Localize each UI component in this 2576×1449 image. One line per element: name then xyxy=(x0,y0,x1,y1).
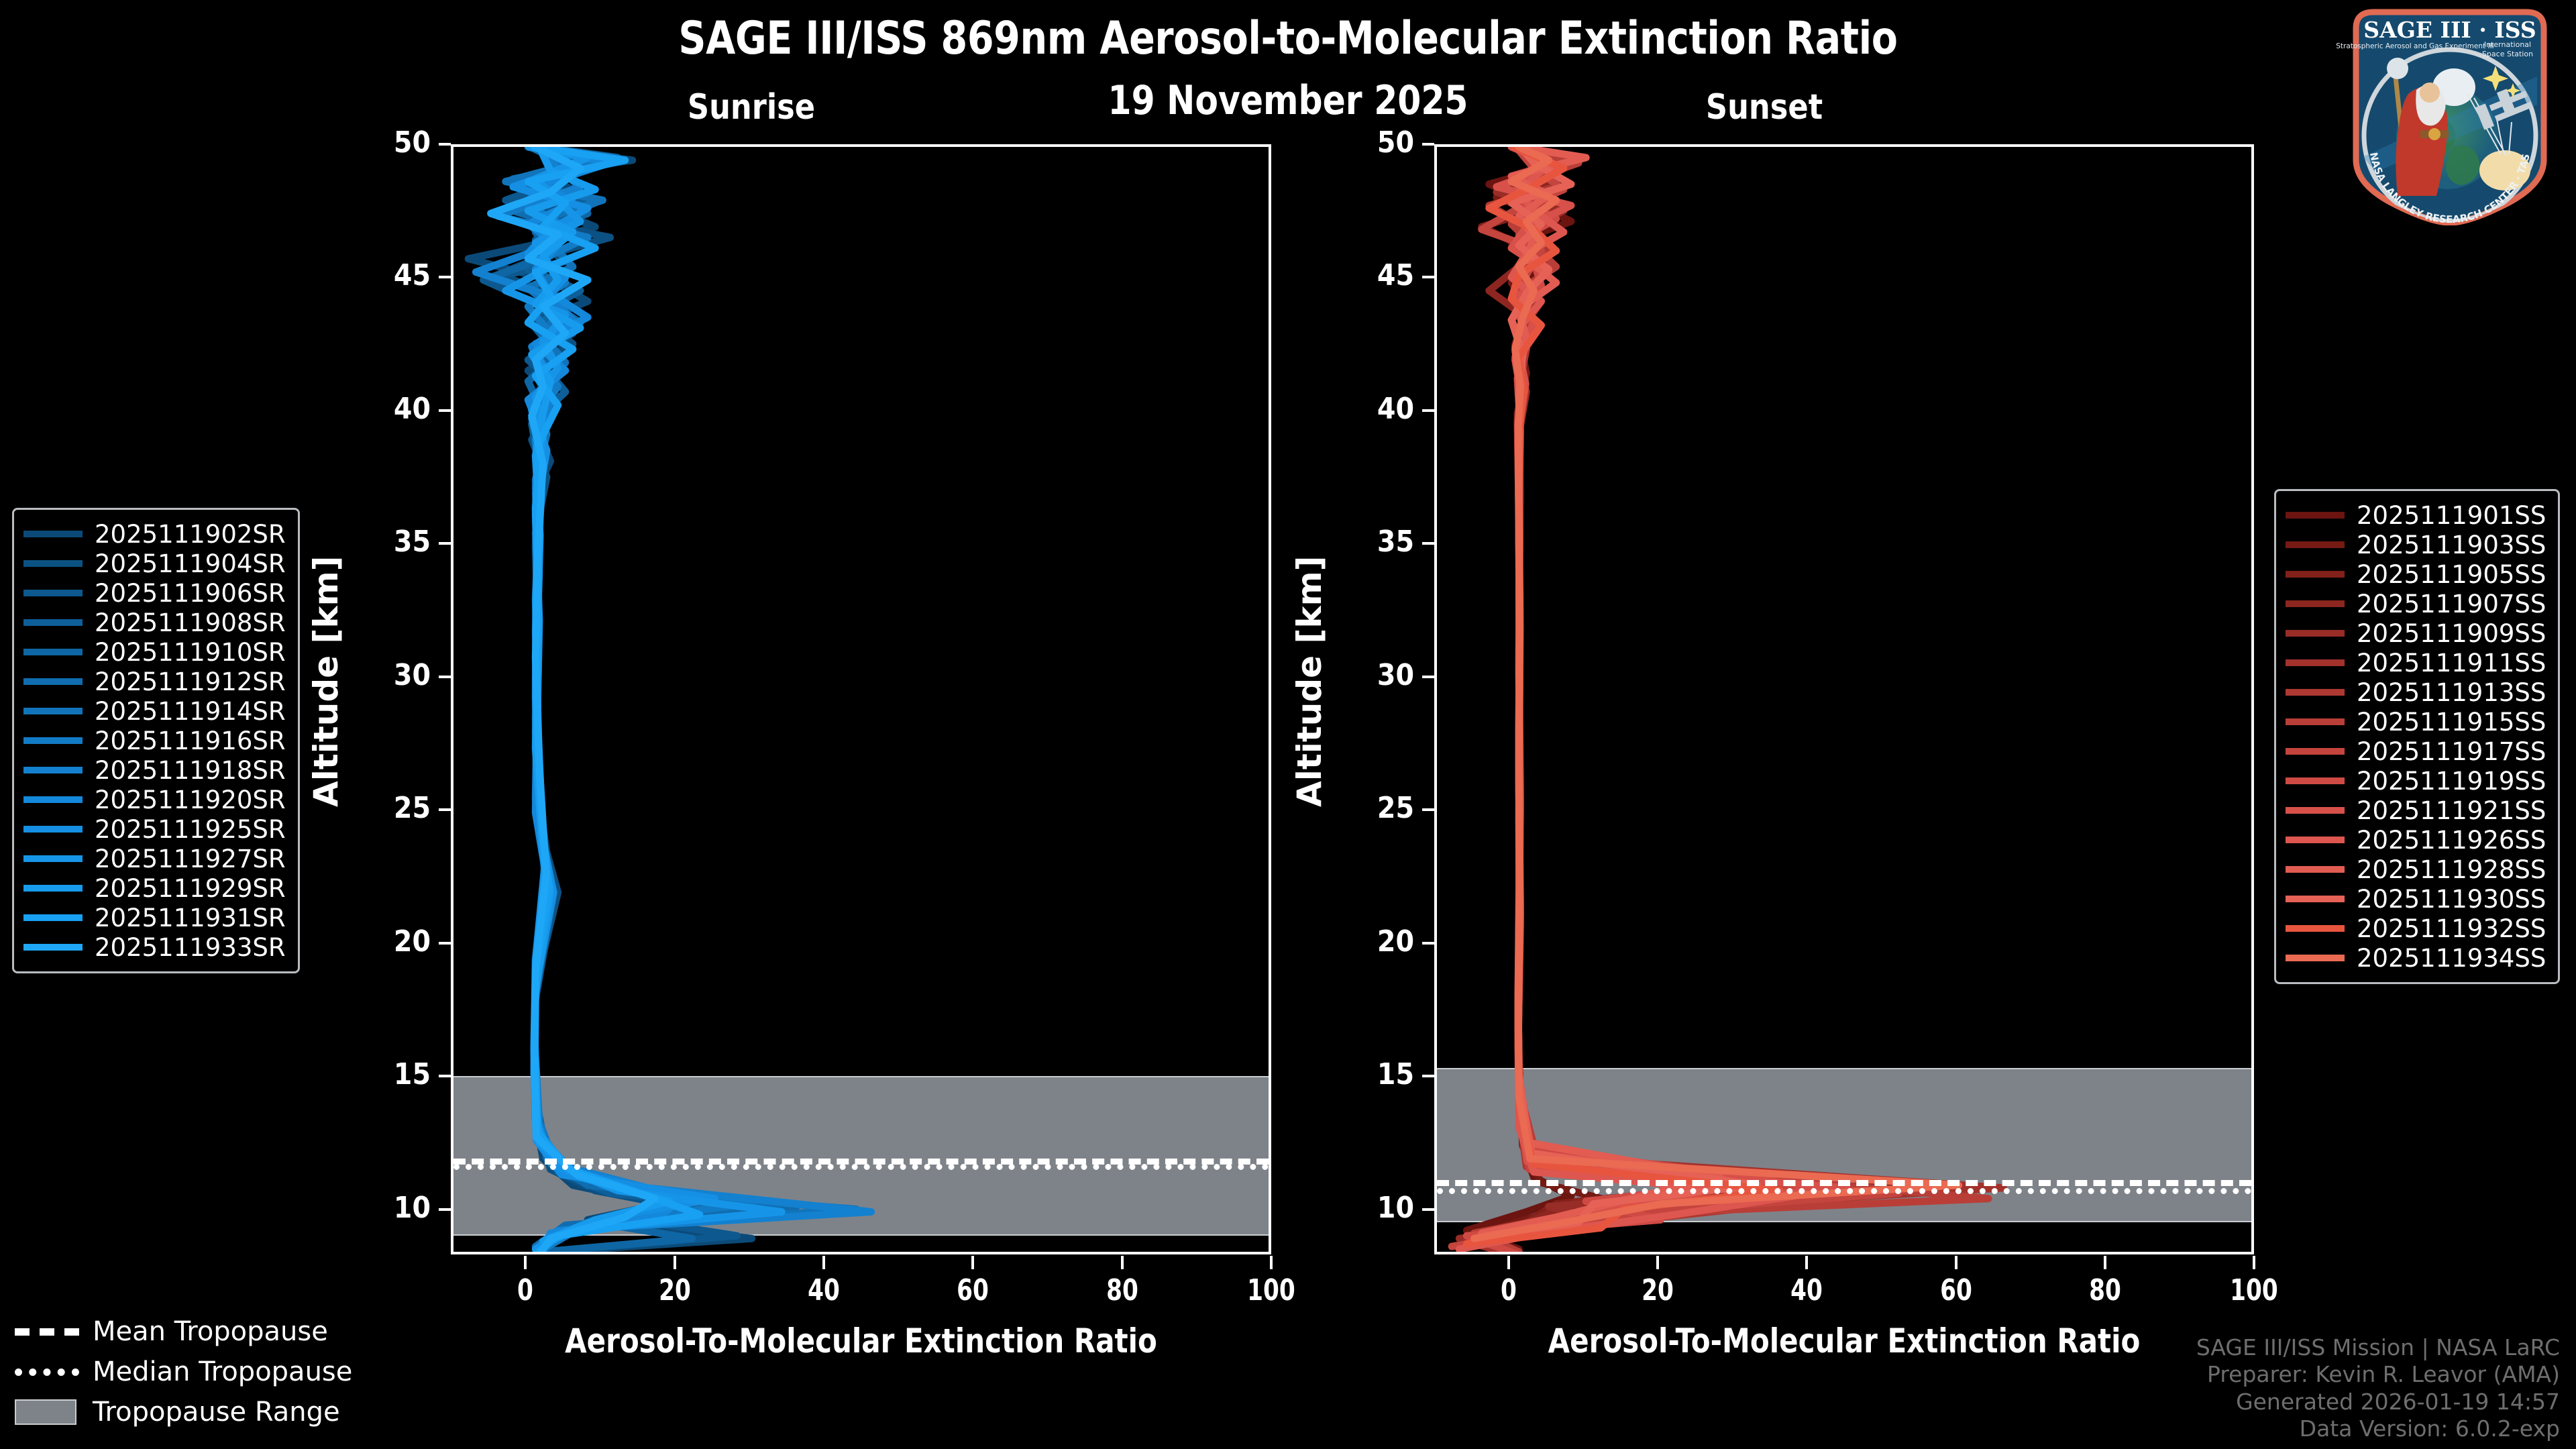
legend-item[interactable]: 2025111917SS xyxy=(2286,737,2546,766)
legend-item[interactable]: 2025111930SS xyxy=(2286,884,2546,914)
y-tick-mark xyxy=(439,1075,451,1077)
legend-item[interactable]: 2025111929SR xyxy=(23,873,286,903)
dashed-line-icon xyxy=(15,1328,79,1336)
legend-item[interactable]: 2025111920SR xyxy=(23,785,286,814)
legend-event-label: 2025111933SR xyxy=(95,933,286,962)
legend-event-label: 2025111906SR xyxy=(95,579,286,608)
x-tick-mark xyxy=(1805,1256,1808,1269)
legend-color-swatch xyxy=(2286,718,2345,725)
y-tick-mark xyxy=(439,276,451,278)
series-line xyxy=(1466,147,2003,1254)
y-tick-mark xyxy=(1422,409,1434,412)
sunset-panel-x-axis-label: Aerosol-To-Molecular Extinction Ratio xyxy=(1500,1322,2188,1360)
legend-item[interactable]: 2025111904SR xyxy=(23,549,286,578)
x-tick-mark xyxy=(822,1256,825,1269)
series-line xyxy=(1474,147,1989,1252)
y-tick-mark xyxy=(439,676,451,678)
legend-event-label: 2025111910SR xyxy=(95,638,286,667)
series-line xyxy=(484,147,737,1252)
y-tick-label: 40 xyxy=(352,392,431,426)
series-line xyxy=(1474,147,1959,1238)
mean-tropopause-line xyxy=(1437,1180,2251,1186)
y-tick-label: 25 xyxy=(352,791,431,825)
sunset-panel-y-axis-label: Altitude [km] xyxy=(1290,555,1329,807)
legend-color-swatch xyxy=(2286,512,2345,519)
footer-data-version: Data Version: 6.0.2-exp xyxy=(2196,1415,2560,1442)
legend-color-swatch xyxy=(2286,689,2345,696)
legend-color-swatch xyxy=(23,619,83,626)
sunset-legend[interactable]: 2025111901SS2025111903SS2025111905SS2025… xyxy=(2274,489,2560,984)
legend-event-label: 2025111934SS xyxy=(2357,944,2546,973)
y-tick-label: 30 xyxy=(1336,658,1414,692)
y-tick-label: 50 xyxy=(352,125,431,160)
x-tick-label: 40 xyxy=(1765,1273,1849,1307)
x-tick-mark xyxy=(1270,1256,1273,1269)
tropopause-legend-item: Tropopause Range xyxy=(15,1392,352,1432)
median-tropopause-line xyxy=(453,1164,1269,1170)
tropopause-legend: Mean TropopauseMedian TropopauseTropopau… xyxy=(15,1311,352,1432)
sunrise-panel-heading: Sunrise xyxy=(653,87,849,127)
sunset-panel-heading: Sunset xyxy=(1666,87,1862,127)
x-tick-label: 80 xyxy=(2063,1273,2147,1307)
tropopause-legend-item: Mean Tropopause xyxy=(15,1311,352,1352)
legend-item[interactable]: 2025111919SS xyxy=(2286,766,2546,796)
x-tick-label: 20 xyxy=(633,1273,716,1307)
y-tick-mark xyxy=(439,542,451,545)
series-line xyxy=(1459,147,1794,1249)
y-tick-label: 45 xyxy=(1336,258,1414,292)
legend-item[interactable]: 2025111907SS xyxy=(2286,589,2546,619)
observation-date: 19 November 2025 xyxy=(206,77,2370,124)
legend-event-label: 2025111904SR xyxy=(95,549,286,578)
legend-item[interactable]: 2025111906SR xyxy=(23,578,286,608)
legend-event-label: 2025111917SS xyxy=(2357,737,2546,766)
legend-item[interactable]: 2025111914SR xyxy=(23,696,286,726)
legend-item[interactable]: 2025111927SR xyxy=(23,844,286,873)
legend-item[interactable]: 2025111910SR xyxy=(23,637,286,667)
legend-event-label: 2025111931SR xyxy=(95,904,286,932)
legend-color-swatch xyxy=(23,590,83,596)
tropopause-legend-item: Median Tropopause xyxy=(15,1352,352,1392)
legend-event-label: 2025111901SS xyxy=(2357,501,2546,530)
x-tick-mark xyxy=(2104,1256,2106,1269)
legend-event-label: 2025111902SR xyxy=(95,520,286,549)
x-tick-label: 80 xyxy=(1080,1273,1164,1307)
legend-event-label: 2025111921SS xyxy=(2357,796,2546,825)
legend-item[interactable]: 2025111903SS xyxy=(2286,530,2546,559)
y-tick-label: 15 xyxy=(1336,1057,1414,1091)
legend-item[interactable]: 2025111916SR xyxy=(23,726,286,755)
legend-event-label: 2025111925SR xyxy=(95,815,286,844)
legend-item[interactable]: 2025111911SS xyxy=(2286,648,2546,678)
legend-event-label: 2025111926SS xyxy=(2357,826,2546,855)
y-tick-mark xyxy=(1422,1075,1434,1077)
legend-item[interactable]: 2025111921SS xyxy=(2286,796,2546,825)
legend-event-label: 2025111907SS xyxy=(2357,590,2546,619)
figure-root: SAGE III/ISS 869nm Aerosol-to-Molecular … xyxy=(0,0,2576,1449)
legend-item[interactable]: 2025111908SR xyxy=(23,608,286,637)
legend-event-label: 2025111915SS xyxy=(2357,708,2546,737)
legend-color-swatch xyxy=(23,737,83,744)
x-tick-mark xyxy=(1656,1256,1659,1269)
legend-color-swatch xyxy=(2286,630,2345,637)
y-tick-mark xyxy=(1422,676,1434,678)
median-tropopause-line xyxy=(1437,1188,2251,1194)
legend-item[interactable]: 2025111933SR xyxy=(23,932,286,962)
y-tick-mark xyxy=(1422,942,1434,945)
page-title: SAGE III/ISS 869nm Aerosol-to-Molecular … xyxy=(206,12,2370,65)
sunset-panel-series-layer xyxy=(1437,147,2254,1254)
legend-color-swatch xyxy=(2286,896,2345,902)
legend-color-swatch xyxy=(23,885,83,892)
x-tick-mark xyxy=(1507,1256,1510,1269)
legend-color-swatch xyxy=(23,944,83,951)
legend-item[interactable]: 2025111909SS xyxy=(2286,619,2546,648)
legend-color-swatch xyxy=(2286,955,2345,961)
series-line xyxy=(1482,147,1601,1252)
legend-event-label: 2025111913SS xyxy=(2357,678,2546,707)
y-tick-mark xyxy=(1422,542,1434,545)
legend-color-swatch xyxy=(23,531,83,537)
legend-item[interactable]: 2025111902SR xyxy=(23,519,286,549)
legend-item[interactable]: 2025111928SS xyxy=(2286,855,2546,884)
footer-preparer: Preparer: Kevin R. Leavor (AMA) xyxy=(2196,1361,2560,1388)
legend-event-label: 2025111919SS xyxy=(2357,767,2546,796)
y-tick-mark xyxy=(1422,1208,1434,1211)
legend-color-swatch xyxy=(23,826,83,833)
y-tick-label: 10 xyxy=(352,1191,431,1225)
tropopause-legend-label: Median Tropopause xyxy=(93,1356,352,1387)
y-tick-label: 40 xyxy=(1336,392,1414,426)
y-tick-mark xyxy=(1422,276,1434,278)
sunrise-panel-x-axis-label: Aerosol-To-Molecular Extinction Ratio xyxy=(517,1322,1205,1360)
legend-color-swatch xyxy=(23,708,83,714)
legend-color-swatch xyxy=(2286,925,2345,932)
legend-color-swatch xyxy=(2286,541,2345,548)
legend-color-swatch xyxy=(2286,748,2345,755)
y-tick-mark xyxy=(1422,143,1434,146)
tropopause-legend-label: Tropopause Range xyxy=(93,1397,340,1428)
y-tick-label: 30 xyxy=(352,658,431,692)
footer-generated: Generated 2026-01-19 14:57 xyxy=(2196,1389,2560,1415)
legend-item[interactable]: 2025111913SS xyxy=(2286,678,2546,707)
legend-event-label: 2025111908SR xyxy=(95,608,286,637)
x-tick-label: 60 xyxy=(931,1273,1015,1307)
legend-event-label: 2025111909SS xyxy=(2357,619,2546,648)
y-tick-mark xyxy=(1422,808,1434,811)
legend-event-label: 2025111916SR xyxy=(95,727,286,755)
y-tick-label: 10 xyxy=(1336,1191,1414,1225)
legend-item[interactable]: 2025111915SS xyxy=(2286,707,2546,737)
legend-event-label: 2025111918SR xyxy=(95,756,286,785)
x-tick-label: 0 xyxy=(1467,1273,1551,1307)
series-line xyxy=(468,147,751,1252)
y-tick-mark xyxy=(439,808,451,811)
x-tick-mark xyxy=(1955,1256,1957,1269)
x-tick-mark xyxy=(524,1256,527,1269)
legend-event-label: 2025111912SR xyxy=(95,667,286,696)
y-tick-label: 35 xyxy=(352,525,431,559)
sunrise-legend[interactable]: 2025111902SR2025111904SR2025111906SR2025… xyxy=(12,508,300,973)
y-tick-label: 15 xyxy=(352,1057,431,1091)
y-tick-mark xyxy=(439,409,451,412)
series-line xyxy=(491,147,722,1252)
legend-item[interactable]: 2025111901SS xyxy=(2286,500,2546,530)
logo-title: SAGE III · ISS xyxy=(2363,17,2536,43)
sunset-panel-plot-area[interactable] xyxy=(1434,144,2254,1254)
x-tick-label: 100 xyxy=(2212,1273,2296,1307)
logo-subtitle-right-1: International xyxy=(2484,40,2531,49)
dotted-line-icon xyxy=(15,1368,79,1376)
sunrise-panel-plot-area[interactable] xyxy=(451,144,1271,1254)
legend-color-swatch xyxy=(2286,837,2345,843)
x-tick-label: 20 xyxy=(1616,1273,1700,1307)
tropopause-legend-key xyxy=(15,1368,79,1376)
legend-item[interactable]: 2025111912SR xyxy=(23,667,286,696)
x-tick-mark xyxy=(2253,1256,2255,1269)
y-tick-label: 25 xyxy=(1336,791,1414,825)
range-band-icon xyxy=(15,1399,76,1425)
legend-item[interactable]: 2025111918SR xyxy=(23,755,286,785)
tropopause-legend-key xyxy=(15,1328,79,1336)
legend-color-swatch xyxy=(23,855,83,862)
sage-iii-iss-mission-patch-icon: SAGE III · ISS Stratospheric Aerosol and… xyxy=(2336,4,2564,225)
x-tick-label: 40 xyxy=(782,1273,866,1307)
legend-color-swatch xyxy=(2286,807,2345,814)
legend-item[interactable]: 2025111926SS xyxy=(2286,825,2546,855)
legend-event-label: 2025111927SR xyxy=(95,845,286,873)
legend-event-label: 2025111905SS xyxy=(2357,560,2546,589)
legend-color-swatch xyxy=(23,678,83,685)
legend-item[interactable]: 2025111931SR xyxy=(23,903,286,932)
legend-color-swatch xyxy=(23,796,83,803)
series-line xyxy=(491,147,655,1254)
x-tick-mark xyxy=(971,1256,974,1269)
legend-color-swatch xyxy=(23,914,83,921)
legend-event-label: 2025111920SR xyxy=(95,786,286,814)
legend-item[interactable]: 2025111932SS xyxy=(2286,914,2546,943)
legend-event-label: 2025111903SS xyxy=(2357,531,2546,559)
y-tick-label: 20 xyxy=(1336,924,1414,959)
sunrise-panel-y-axis-label: Altitude [km] xyxy=(307,555,345,807)
series-line xyxy=(1489,147,1921,1252)
legend-color-swatch xyxy=(23,560,83,567)
x-tick-mark xyxy=(1121,1256,1124,1269)
legend-event-label: 2025111928SS xyxy=(2357,855,2546,884)
logo-subtitle-right-2: Space Station xyxy=(2482,50,2533,58)
legend-event-label: 2025111930SS xyxy=(2357,885,2546,914)
x-tick-label: 60 xyxy=(1914,1273,1998,1307)
y-tick-label: 45 xyxy=(352,258,431,292)
series-line xyxy=(1482,147,1870,1244)
legend-color-swatch xyxy=(2286,571,2345,578)
tropopause-legend-key xyxy=(15,1399,79,1425)
legend-event-label: 2025111914SR xyxy=(95,697,286,726)
footer-attribution: SAGE III/ISS Mission | NASA LaRC Prepare… xyxy=(2196,1334,2560,1442)
legend-item[interactable]: 2025111905SS xyxy=(2286,559,2546,589)
legend-event-label: 2025111932SS xyxy=(2357,914,2546,943)
legend-color-swatch xyxy=(2286,659,2345,666)
x-tick-label: 100 xyxy=(1230,1273,1313,1307)
footer-mission: SAGE III/ISS Mission | NASA LaRC xyxy=(2196,1334,2560,1361)
y-tick-mark xyxy=(439,942,451,945)
y-tick-mark xyxy=(439,1208,451,1211)
x-tick-label: 0 xyxy=(484,1273,568,1307)
sunrise-panel-series-layer xyxy=(453,147,1271,1254)
y-tick-label: 35 xyxy=(1336,525,1414,559)
legend-color-swatch xyxy=(23,767,83,773)
y-tick-mark xyxy=(439,143,451,146)
legend-event-label: 2025111911SS xyxy=(2357,649,2546,678)
legend-color-swatch xyxy=(2286,777,2345,784)
legend-event-label: 2025111929SR xyxy=(95,874,286,903)
legend-color-swatch xyxy=(23,649,83,655)
y-tick-label: 50 xyxy=(1336,125,1414,160)
legend-item[interactable]: 2025111934SS xyxy=(2286,943,2546,973)
legend-item[interactable]: 2025111925SR xyxy=(23,814,286,844)
tropopause-legend-label: Mean Tropopause xyxy=(93,1316,328,1347)
logo-subtitle-left: Stratospheric Aerosol and Gas Experiment… xyxy=(2336,42,2494,50)
legend-color-swatch xyxy=(2286,866,2345,873)
y-tick-label: 20 xyxy=(352,924,431,959)
legend-color-swatch xyxy=(2286,600,2345,607)
x-tick-mark xyxy=(674,1256,676,1269)
